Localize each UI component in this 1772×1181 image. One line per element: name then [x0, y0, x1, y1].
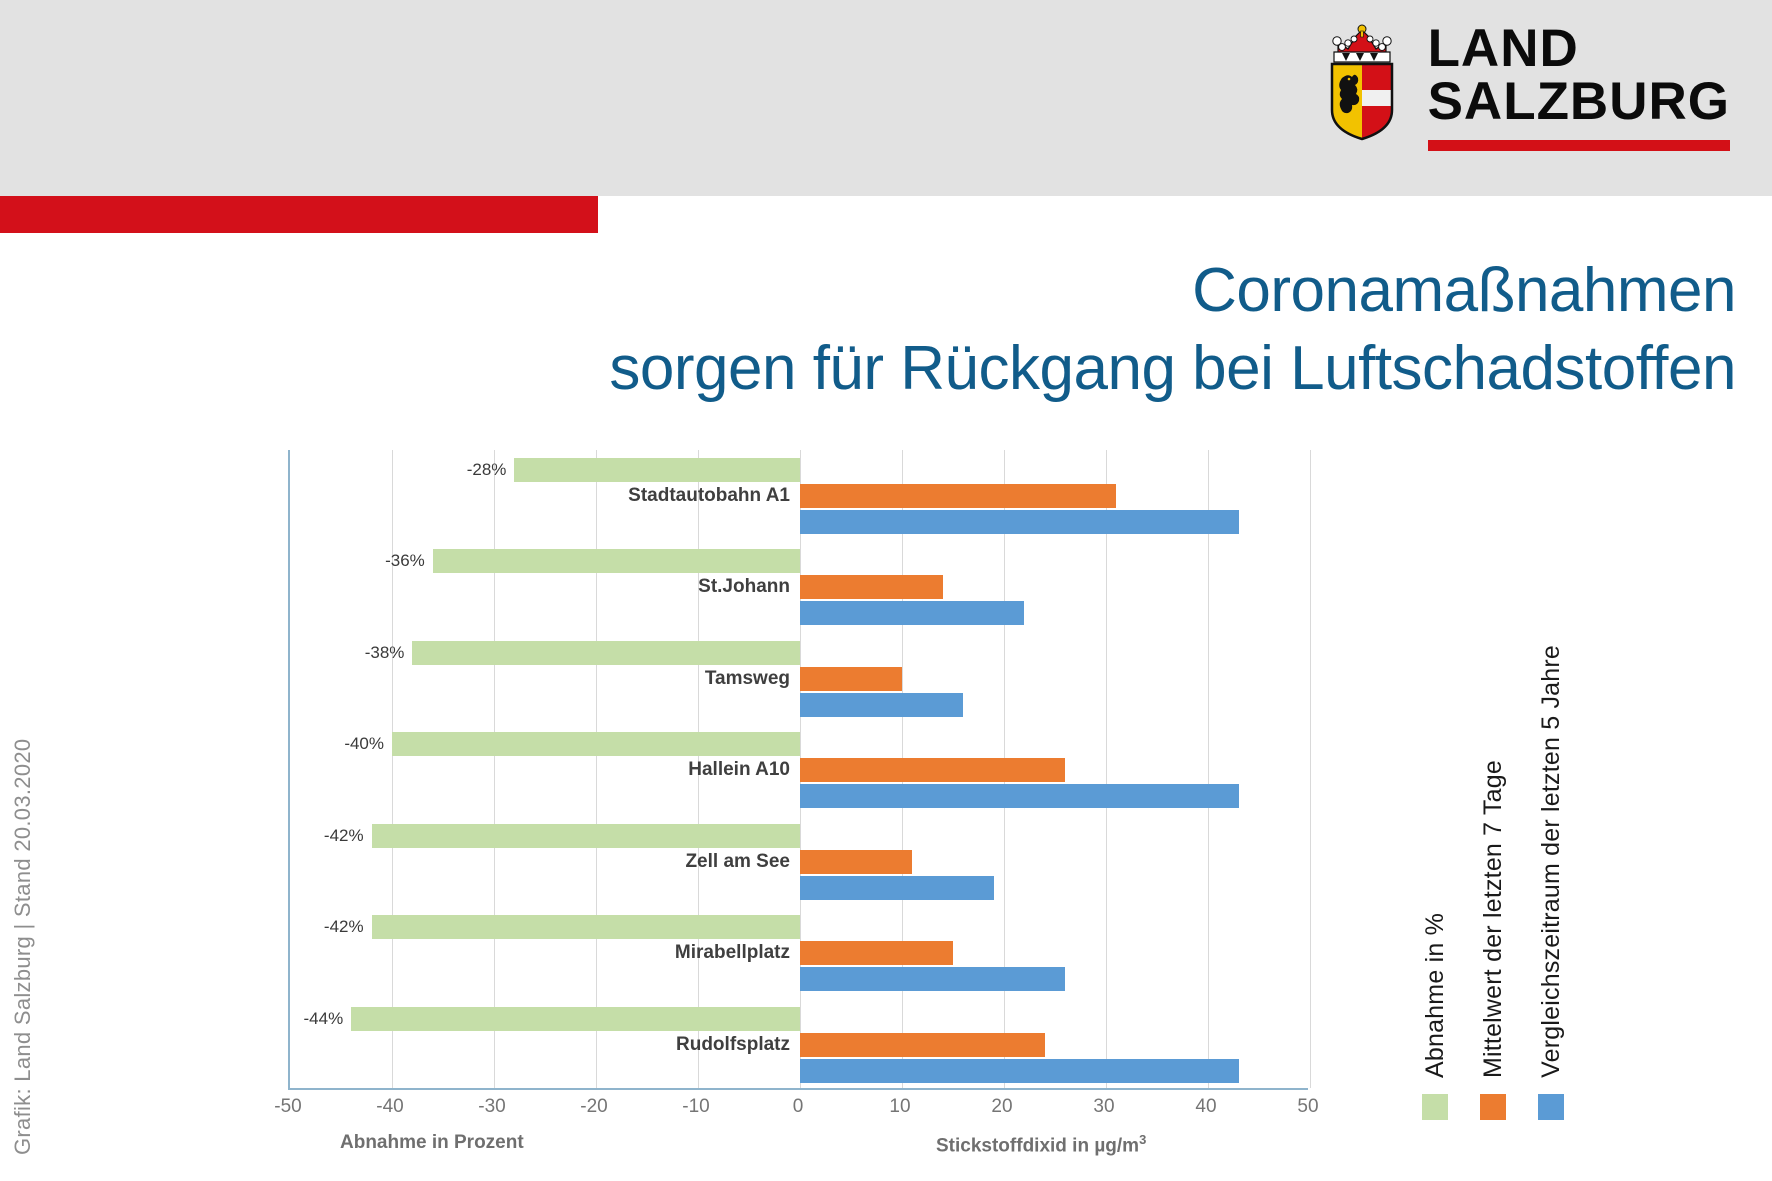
bar-mittelwert-7-tage — [800, 1033, 1045, 1057]
chart-category-label: Rudolfsplatz — [676, 1034, 790, 1056]
bar-abnahme-prozent — [392, 732, 800, 756]
bar-value-label: -40% — [344, 734, 384, 754]
legend-item[interactable]: Vergleichszeitraum der letzten 5 Jahre — [1536, 645, 1566, 1120]
bar-value-label: -28% — [467, 460, 507, 480]
land-salzburg-logo: LAND SALZBURG — [1318, 22, 1730, 151]
credit-note: Grafik: Land Salzburg | Stand 20.03.2020 — [36, 735, 70, 1155]
bar-vergleichszeitraum-5-jahre — [800, 601, 1024, 625]
bar-value-label: -36% — [385, 551, 425, 571]
bar-mittelwert-7-tage — [800, 575, 943, 599]
chart-bar-group: -42%Zell am See — [290, 816, 1308, 907]
bar-abnahme-prozent — [372, 915, 800, 939]
legend-swatch — [1480, 1094, 1506, 1120]
chart-category-label: Tamsweg — [705, 668, 790, 690]
bar-mittelwert-7-tage — [800, 667, 902, 691]
bar-mittelwert-7-tage — [800, 758, 1065, 782]
chart-bar-group: -44%Rudolfsplatz — [290, 999, 1308, 1090]
bar-mittelwert-7-tage — [800, 941, 953, 965]
chart-category-label: St.Johann — [698, 576, 790, 598]
bar-abnahme-prozent — [514, 458, 800, 482]
bar-vergleichszeitraum-5-jahre — [800, 967, 1065, 991]
bar-vergleichszeitraum-5-jahre — [800, 876, 994, 900]
chart-category-label: Hallein A10 — [688, 759, 790, 781]
chart-category-label: Stadtautobahn A1 — [628, 485, 790, 507]
legend-swatch — [1538, 1094, 1564, 1120]
x-axis-title-right: Stickstoffdixid in µg/m3 — [936, 1132, 1146, 1157]
bar-mittelwert-7-tage — [800, 850, 912, 874]
chart-bar-group: -36%St.Johann — [290, 541, 1308, 632]
logo-underline — [1428, 140, 1730, 151]
bar-vergleichszeitraum-5-jahre — [800, 784, 1239, 808]
x-axis-tick-label: 10 — [889, 1096, 910, 1118]
legend-item[interactable]: Abnahme in % — [1420, 913, 1450, 1120]
bar-vergleichszeitraum-5-jahre — [800, 693, 963, 717]
x-axis-tick-label: 40 — [1195, 1096, 1216, 1118]
bar-value-label: -42% — [324, 826, 364, 846]
x-axis-tick-label: 30 — [1093, 1096, 1114, 1118]
salzburg-coat-of-arms-icon — [1318, 22, 1406, 142]
chart-bar-group: -42%Mirabellplatz — [290, 907, 1308, 998]
legend-label: Vergleichszeitraum der letzten 5 Jahre — [1537, 645, 1566, 1078]
chart-legend: Abnahme in %Mittelwert der letzten 7 Tag… — [1420, 560, 1620, 1120]
x-axis-title-left: Abnahme in Prozent — [340, 1132, 524, 1154]
legend-label: Abnahme in % — [1421, 913, 1450, 1078]
red-accent-bar — [0, 196, 598, 233]
page-title: Coronamaßnahmen sorgen für Rückgang bei … — [609, 252, 1736, 408]
legend-item[interactable]: Mittelwert der letzten 7 Tage — [1478, 760, 1508, 1120]
chart-category-label: Zell am See — [685, 851, 790, 873]
x-axis-tick-label: 20 — [991, 1096, 1012, 1118]
legend-swatch — [1422, 1094, 1448, 1120]
chart-plot-area: -28%Stadtautobahn A1-36%St.Johann-38%Tam… — [288, 450, 1308, 1090]
chart-category-label: Mirabellplatz — [675, 942, 790, 964]
x-axis-tick-label: 0 — [793, 1096, 804, 1118]
bar-abnahme-prozent — [372, 824, 800, 848]
logo-wordmark: LAND SALZBURG — [1428, 22, 1730, 151]
page-title-line-1: Coronamaßnahmen — [609, 252, 1736, 330]
bar-mittelwert-7-tage — [800, 484, 1116, 508]
chart-bar-group: -38%Tamsweg — [290, 633, 1308, 724]
bar-vergleichszeitraum-5-jahre — [800, 1059, 1239, 1083]
gridline — [1310, 450, 1311, 1088]
x-axis-tick-label: -50 — [274, 1096, 301, 1118]
x-axis-tick-label: -30 — [478, 1096, 505, 1118]
logo-line-2: SALZBURG — [1428, 75, 1730, 128]
legend-label: Mittelwert der letzten 7 Tage — [1479, 760, 1508, 1078]
bar-value-label: -42% — [324, 917, 364, 937]
x-axis-tick-label: -40 — [376, 1096, 403, 1118]
bar-value-label: -38% — [365, 643, 405, 663]
x-axis-tick-label: -10 — [682, 1096, 709, 1118]
nitrogen-dioxide-bar-chart: -28%Stadtautobahn A1-36%St.Johann-38%Tam… — [288, 450, 1308, 1090]
bar-value-label: -44% — [304, 1009, 344, 1029]
bar-abnahme-prozent — [351, 1007, 800, 1031]
bar-abnahme-prozent — [412, 641, 800, 665]
chart-bar-group: -28%Stadtautobahn A1 — [290, 450, 1308, 541]
credit-text: Grafik: Land Salzburg | Stand 20.03.2020 — [10, 739, 36, 1155]
bar-abnahme-prozent — [433, 549, 800, 573]
page-title-line-2: sorgen für Rückgang bei Luftschadstoffen — [609, 330, 1736, 408]
bar-vergleichszeitraum-5-jahre — [800, 510, 1239, 534]
x-axis-tick-label: -20 — [580, 1096, 607, 1118]
logo-line-1: LAND — [1428, 22, 1730, 75]
x-axis-tick-label: 50 — [1297, 1096, 1318, 1118]
chart-bar-group: -40%Hallein A10 — [290, 724, 1308, 815]
